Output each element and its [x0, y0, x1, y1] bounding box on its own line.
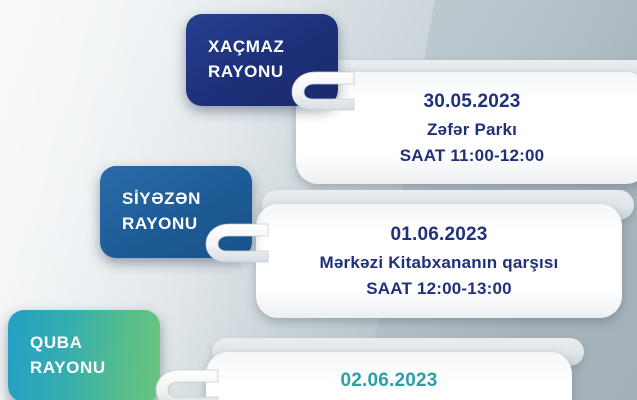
card-time-1: SAAT 11:00-12:00 [400, 146, 545, 166]
card-time-2: SAAT 12:00-13:00 [366, 279, 512, 299]
badge-xacmaz-line2: RAYONU [208, 60, 338, 85]
card-date-2: 01.06.2023 [390, 224, 487, 246]
card-place-1: Zəfər Parkı [427, 120, 517, 140]
info-card-2: 01.06.2023 Mərkəzi Kitabxananın qarşısı … [256, 204, 622, 318]
badge-xacmaz[interactable]: XAÇMAZ RAYONU [186, 14, 338, 106]
card-date-3: 02.06.2023 [340, 370, 437, 392]
badge-quba-line1: QUBA [30, 331, 160, 356]
info-card-3: 02.06.2023 [206, 352, 572, 400]
poster-canvas: 30.05.2023 Zəfər Parkı SAAT 11:00-12:00 … [0, 0, 637, 400]
info-card-1: 30.05.2023 Zəfər Parkı SAAT 11:00-12:00 [296, 72, 637, 184]
badge-quba[interactable]: QUBA RAYONU [8, 310, 160, 400]
badge-xacmaz-line1: XAÇMAZ [208, 35, 338, 60]
card-date-1: 30.05.2023 [423, 91, 520, 113]
card-place-2: Mərkəzi Kitabxananın qarşısı [320, 253, 559, 273]
badge-siyezen[interactable]: SİYƏZƏN RAYONU [100, 166, 252, 258]
badge-siyezen-line2: RAYONU [122, 212, 252, 237]
badge-siyezen-line1: SİYƏZƏN [122, 187, 252, 212]
badge-quba-line2: RAYONU [30, 356, 160, 381]
